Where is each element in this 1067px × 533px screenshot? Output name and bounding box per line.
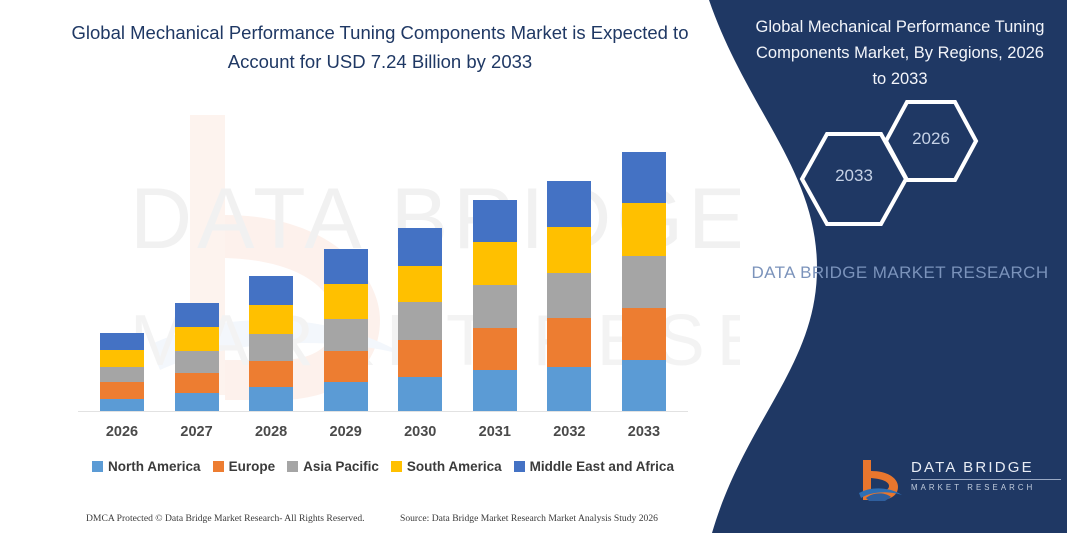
x-axis-labels: 20262027202820292030203120322033 xyxy=(78,424,688,444)
legend-label: South America xyxy=(407,459,502,474)
bar-segment xyxy=(324,382,368,411)
x-axis-tick-label: 2029 xyxy=(310,424,382,444)
footer: DMCA Protected © Data Bridge Market Rese… xyxy=(0,508,740,528)
bar-segment xyxy=(473,370,517,411)
bar-segment xyxy=(249,361,293,387)
bar-group xyxy=(78,100,688,411)
bar-segment xyxy=(547,273,591,318)
legend-swatch-icon xyxy=(287,461,298,472)
legend-label: Asia Pacific xyxy=(303,459,379,474)
bar-column xyxy=(622,152,666,411)
x-axis-tick-label: 2033 xyxy=(608,424,680,444)
legend-item[interactable]: Asia Pacific xyxy=(287,459,379,474)
x-axis-tick-label: 2030 xyxy=(384,424,456,444)
legend-item[interactable]: North America xyxy=(92,459,201,474)
infographic-root: DATA BRIDGE MARKET RESEARCH Global Mecha… xyxy=(0,0,1067,533)
bar-column xyxy=(324,249,368,411)
data-bridge-logo-icon xyxy=(857,457,905,503)
x-axis-tick-label: 2032 xyxy=(533,424,605,444)
legend-label: Europe xyxy=(229,459,276,474)
bar-segment xyxy=(249,387,293,411)
legend-label: North America xyxy=(108,459,201,474)
bar-segment xyxy=(175,351,219,373)
legend-item[interactable]: Middle East and Africa xyxy=(514,459,674,474)
bar-segment xyxy=(175,373,219,393)
legend-item[interactable]: Europe xyxy=(213,459,276,474)
bar-segment xyxy=(547,227,591,273)
legend-swatch-icon xyxy=(92,461,103,472)
bar-segment xyxy=(547,367,591,411)
bar-segment xyxy=(249,334,293,361)
bar-segment xyxy=(324,351,368,382)
bar-segment xyxy=(100,367,144,382)
bar-segment xyxy=(100,399,144,411)
legend-label: Middle East and Africa xyxy=(530,459,674,474)
bar-column xyxy=(398,228,442,411)
bar-segment xyxy=(249,276,293,305)
legend-swatch-icon xyxy=(391,461,402,472)
bar-segment xyxy=(398,266,442,302)
bar-segment xyxy=(398,302,442,340)
footer-copyright: DMCA Protected © Data Bridge Market Rese… xyxy=(86,513,365,524)
bar-segment xyxy=(473,200,517,242)
logo-wordmark: DATA BRIDGE MARKET RESEARCH xyxy=(911,459,1061,492)
panel-brand-text: DATA BRIDGE MARKET RESEARCH xyxy=(742,260,1058,285)
bar-segment xyxy=(324,249,368,284)
x-axis-tick-label: 2028 xyxy=(235,424,307,444)
bar-segment xyxy=(324,319,368,351)
bar-column xyxy=(100,333,144,411)
bar-segment xyxy=(547,318,591,367)
right-panel: Global Mechanical Performance Tuning Com… xyxy=(687,0,1067,533)
bar-column xyxy=(175,303,219,411)
bar-segment xyxy=(175,303,219,327)
chart-legend: North AmericaEuropeAsia PacificSouth Ame… xyxy=(78,455,688,477)
bar-segment xyxy=(100,333,144,350)
bar-column xyxy=(547,181,591,411)
hexagon-badge-2033: 2033 xyxy=(799,131,909,227)
bar-column xyxy=(473,200,517,411)
logo-subtitle: MARKET RESEARCH xyxy=(911,480,1061,492)
x-axis-tick-label: 2031 xyxy=(459,424,531,444)
bar-column xyxy=(249,276,293,411)
panel-logo: DATA BRIDGE MARKET RESEARCH xyxy=(857,455,1057,507)
bar-segment xyxy=(622,308,666,360)
panel-title: Global Mechanical Performance Tuning Com… xyxy=(747,14,1053,92)
bar-segment xyxy=(622,152,666,203)
bar-segment xyxy=(473,242,517,285)
bar-segment xyxy=(398,340,442,377)
bar-segment xyxy=(100,350,144,367)
bar-segment xyxy=(249,305,293,334)
chart-plot-area xyxy=(78,100,688,412)
hexagon-badges: 2026 2033 xyxy=(687,95,1067,220)
footer-source: Source: Data Bridge Market Research Mark… xyxy=(400,513,658,524)
bar-segment xyxy=(398,377,442,411)
logo-title: DATA BRIDGE xyxy=(911,459,1061,480)
bar-segment xyxy=(473,328,517,370)
legend-swatch-icon xyxy=(213,461,224,472)
x-axis-tick-label: 2026 xyxy=(86,424,158,444)
x-axis-line xyxy=(78,411,688,412)
bar-segment xyxy=(175,327,219,351)
legend-item[interactable]: South America xyxy=(391,459,502,474)
bar-segment xyxy=(622,203,666,256)
x-axis-tick-label: 2027 xyxy=(161,424,233,444)
bar-segment xyxy=(175,393,219,411)
legend-swatch-icon xyxy=(514,461,525,472)
hexagon-label-2033: 2033 xyxy=(799,166,909,186)
bar-segment xyxy=(547,181,591,227)
chart-title: Global Mechanical Performance Tuning Com… xyxy=(60,18,700,76)
bar-segment xyxy=(622,256,666,308)
bar-segment xyxy=(398,228,442,266)
bar-segment xyxy=(622,360,666,411)
bar-segment xyxy=(473,285,517,328)
bar-segment xyxy=(324,284,368,319)
bar-segment xyxy=(100,382,144,399)
